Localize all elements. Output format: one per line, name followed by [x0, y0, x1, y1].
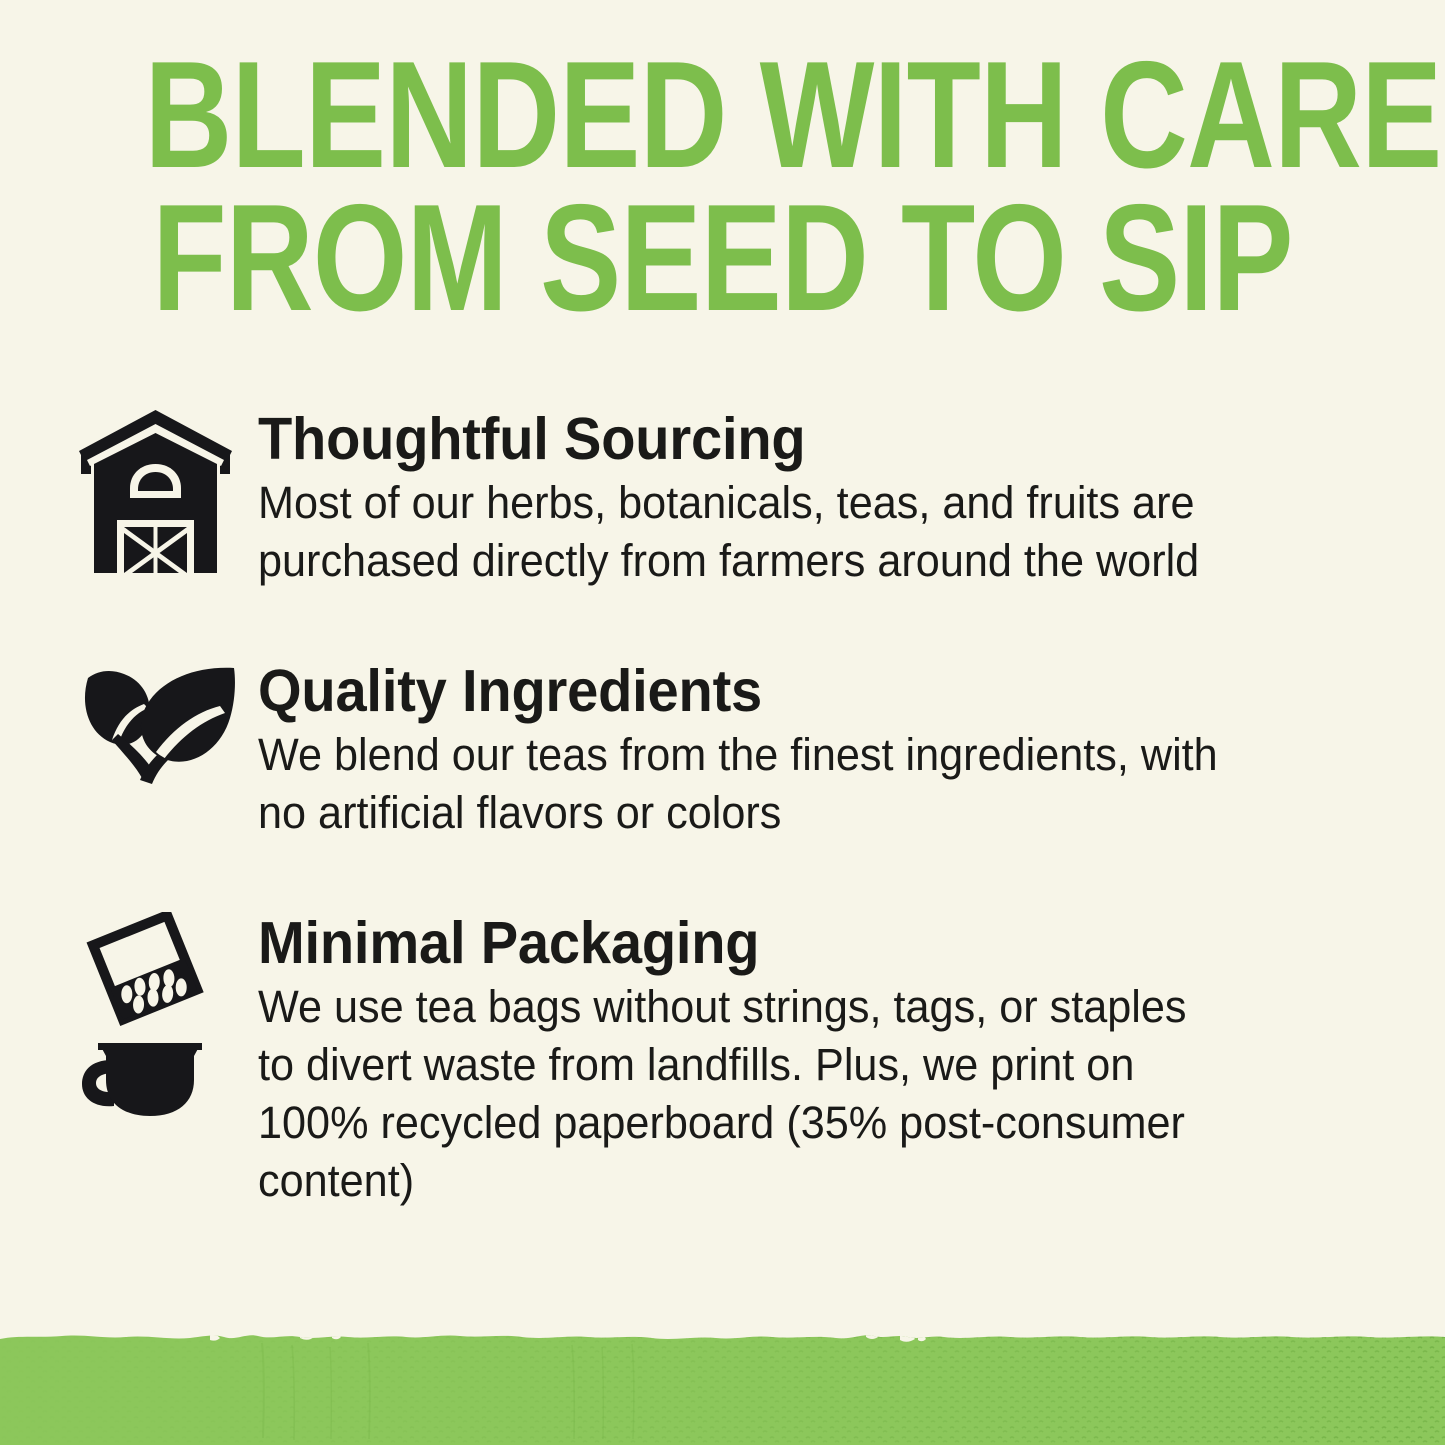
teabag-mug-icon — [78, 912, 208, 1117]
feature-body: Most of our herbs, botanicals, teas, and… — [258, 474, 1228, 590]
feature-title: Quality Ingredients — [258, 660, 1272, 722]
feature-body: We use tea bags without strings, tags, o… — [258, 978, 1228, 1210]
feature-text-container: Minimal Packaging We use tea bags withou… — [258, 912, 1445, 1210]
feature-icon-container — [0, 408, 258, 578]
headline-line-1: BLENDED WITH CARE — [145, 44, 1301, 187]
feature-item-quality-ingredients: Quality Ingredients We blend our teas fr… — [0, 660, 1445, 842]
feature-text-container: Thoughtful Sourcing Most of our herbs, b… — [258, 408, 1445, 590]
page-title: BLENDED WITH CARE FROM SEED TO SIP — [0, 44, 1445, 330]
barn-icon — [78, 408, 233, 578]
product-benefits-panel: BLENDED WITH CARE FROM SEED TO SIP — [0, 0, 1445, 1445]
feature-icon-container — [0, 660, 258, 785]
band-svg — [0, 1325, 1445, 1445]
feature-body: We blend our teas from the finest ingred… — [258, 726, 1228, 842]
green-texture-band — [0, 1325, 1445, 1445]
feature-list: Thoughtful Sourcing Most of our herbs, b… — [0, 408, 1445, 1210]
band-fill — [0, 1325, 1445, 1445]
feature-title: Thoughtful Sourcing — [258, 408, 1272, 470]
leaves-icon — [78, 660, 243, 785]
feature-text-container: Quality Ingredients We blend our teas fr… — [258, 660, 1445, 842]
feature-title: Minimal Packaging — [258, 912, 1272, 974]
feature-item-minimal-packaging: Minimal Packaging We use tea bags withou… — [0, 912, 1445, 1210]
feature-icon-container — [0, 912, 258, 1117]
headline-line-2: FROM SEED TO SIP — [145, 187, 1301, 330]
feature-item-thoughtful-sourcing: Thoughtful Sourcing Most of our herbs, b… — [0, 408, 1445, 590]
